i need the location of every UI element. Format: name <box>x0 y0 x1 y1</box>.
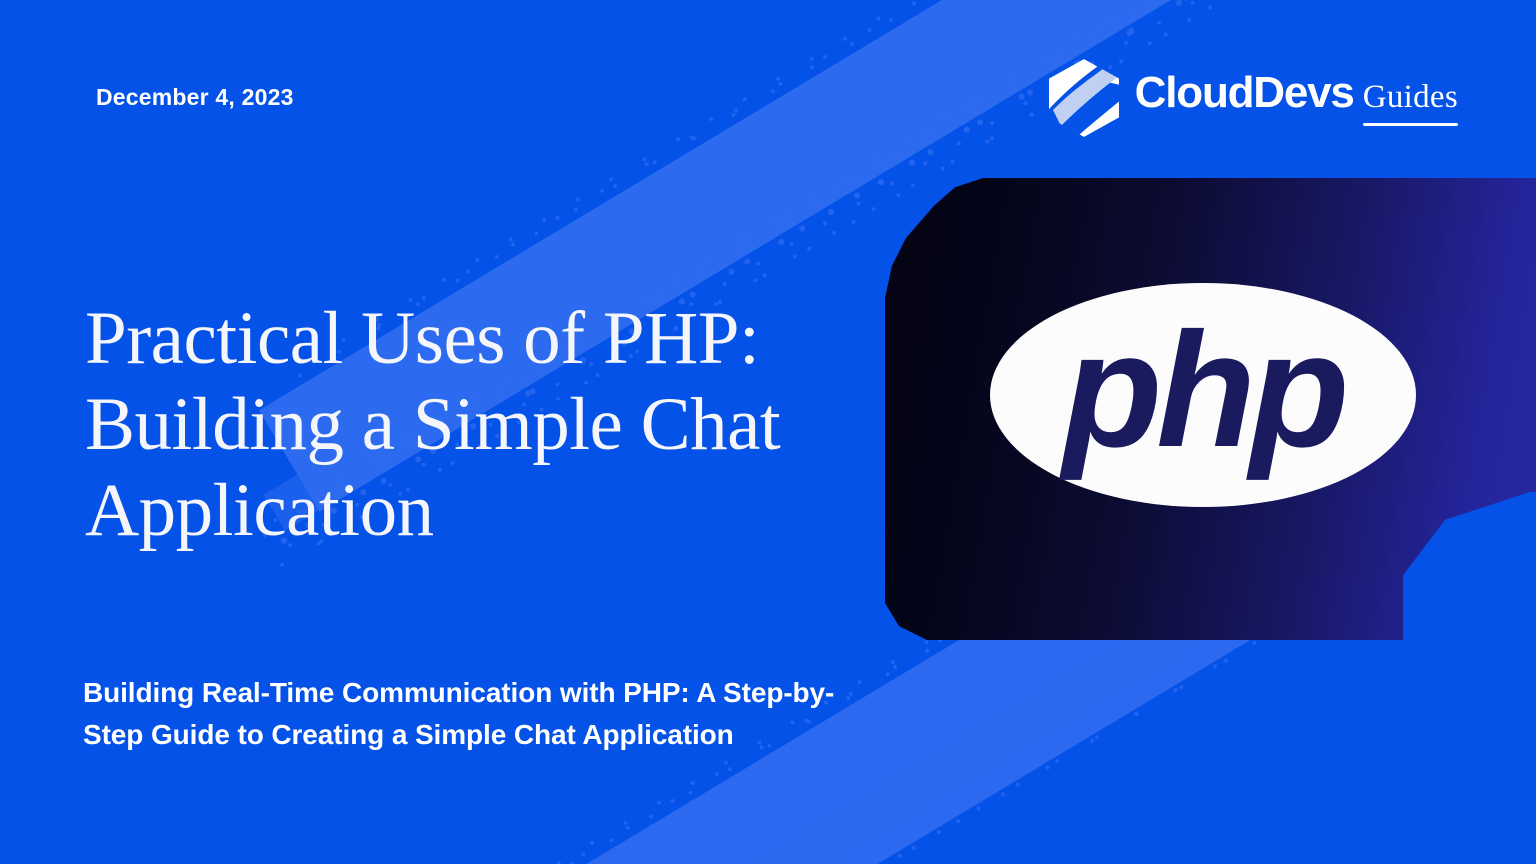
php-logo-text: php <box>1063 308 1344 471</box>
brand-underline <box>1363 123 1458 126</box>
brand-name-primary: CloudDevs <box>1135 71 1354 115</box>
slide-canvas: December 4, 2023 CloudDevs Guides <box>0 0 1536 864</box>
brand-name-secondary: Guides <box>1363 81 1458 114</box>
page-title: Practical Uses of PHP: Building a Simple… <box>85 296 875 554</box>
brand-wordmark: CloudDevs Guides <box>1135 71 1458 126</box>
php-logo-icon: php <box>990 283 1416 507</box>
brand-logo[interactable]: CloudDevs Guides <box>1045 58 1458 138</box>
brand-name-secondary-wrap: Guides <box>1363 81 1458 126</box>
publish-date: December 4, 2023 <box>96 84 294 111</box>
page-subtitle: Building Real-Time Communication with PH… <box>83 672 853 756</box>
clouddevs-hexagon-logo-icon <box>1045 58 1123 138</box>
